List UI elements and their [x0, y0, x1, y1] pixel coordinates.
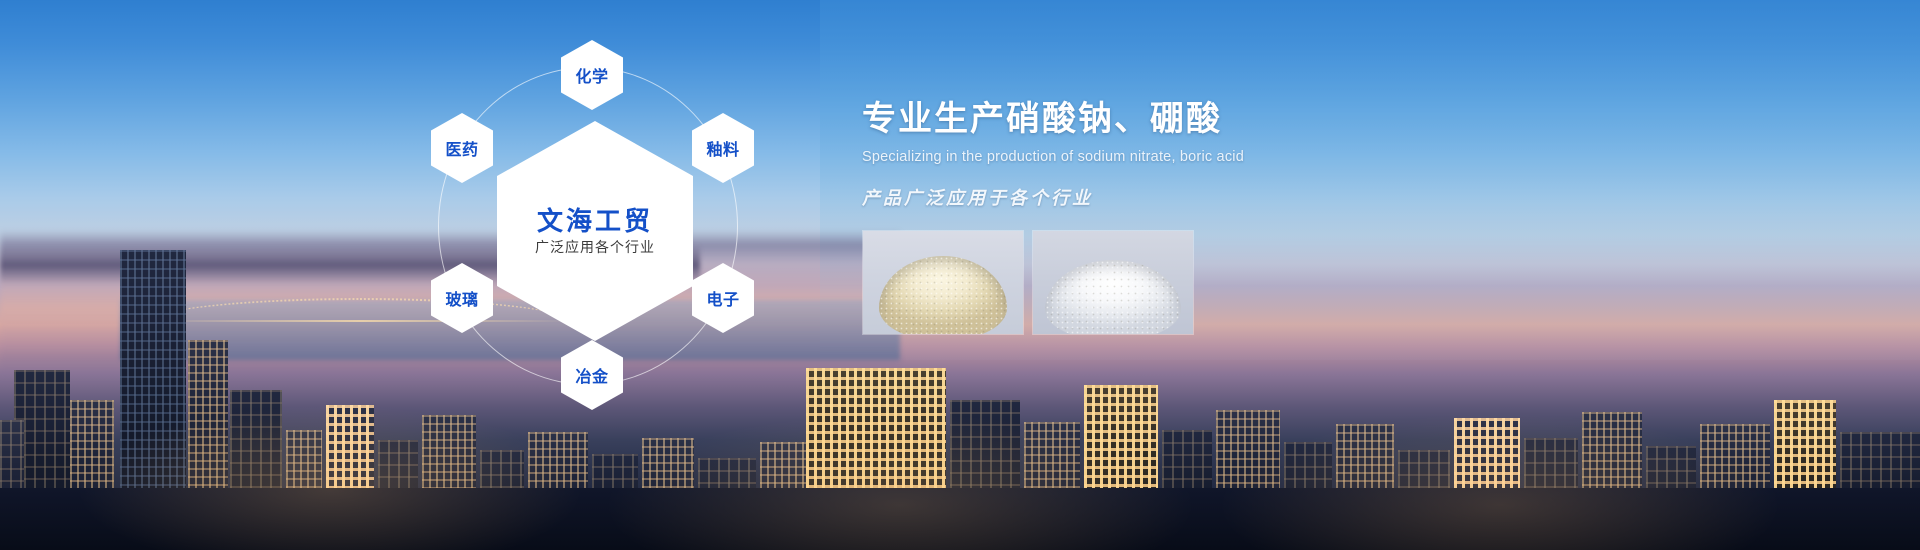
foreground-ground — [0, 488, 1920, 550]
industry-hexagon-diagram: 化学 釉料 电子 冶金 玻璃 医药 文海工贸 广泛应用各个行业 — [430, 45, 760, 415]
hex-node-label: 玻璃 — [445, 286, 478, 310]
hex-node-label: 化学 — [575, 63, 608, 87]
hex-node-label: 电子 — [706, 286, 739, 310]
hex-node-label: 医药 — [445, 136, 478, 160]
product-photo-boric-acid[interactable] — [1032, 230, 1194, 335]
hex-node-label: 冶金 — [575, 363, 608, 387]
hero-banner: 化学 釉料 电子 冶金 玻璃 医药 文海工贸 广泛应用各个行业 专业生产硝酸钠、… — [0, 0, 1920, 550]
product-photo-gallery — [862, 230, 1194, 335]
hex-node-label: 釉料 — [706, 136, 739, 160]
banner-copy: 专业生产硝酸钠、硼酸 Specializing in the productio… — [862, 100, 1622, 210]
banner-subtitle-cn: 产品广泛应用于各个行业 — [862, 188, 1622, 210]
company-tagline: 广泛应用各个行业 — [535, 240, 655, 254]
company-name: 文海工贸 — [537, 208, 653, 234]
banner-subtitle-en: Specializing in the production of sodium… — [862, 149, 1622, 166]
banner-headline: 专业生产硝酸钠、硼酸 — [862, 100, 1622, 139]
product-photo-sodium-nitrate[interactable] — [862, 230, 1024, 335]
